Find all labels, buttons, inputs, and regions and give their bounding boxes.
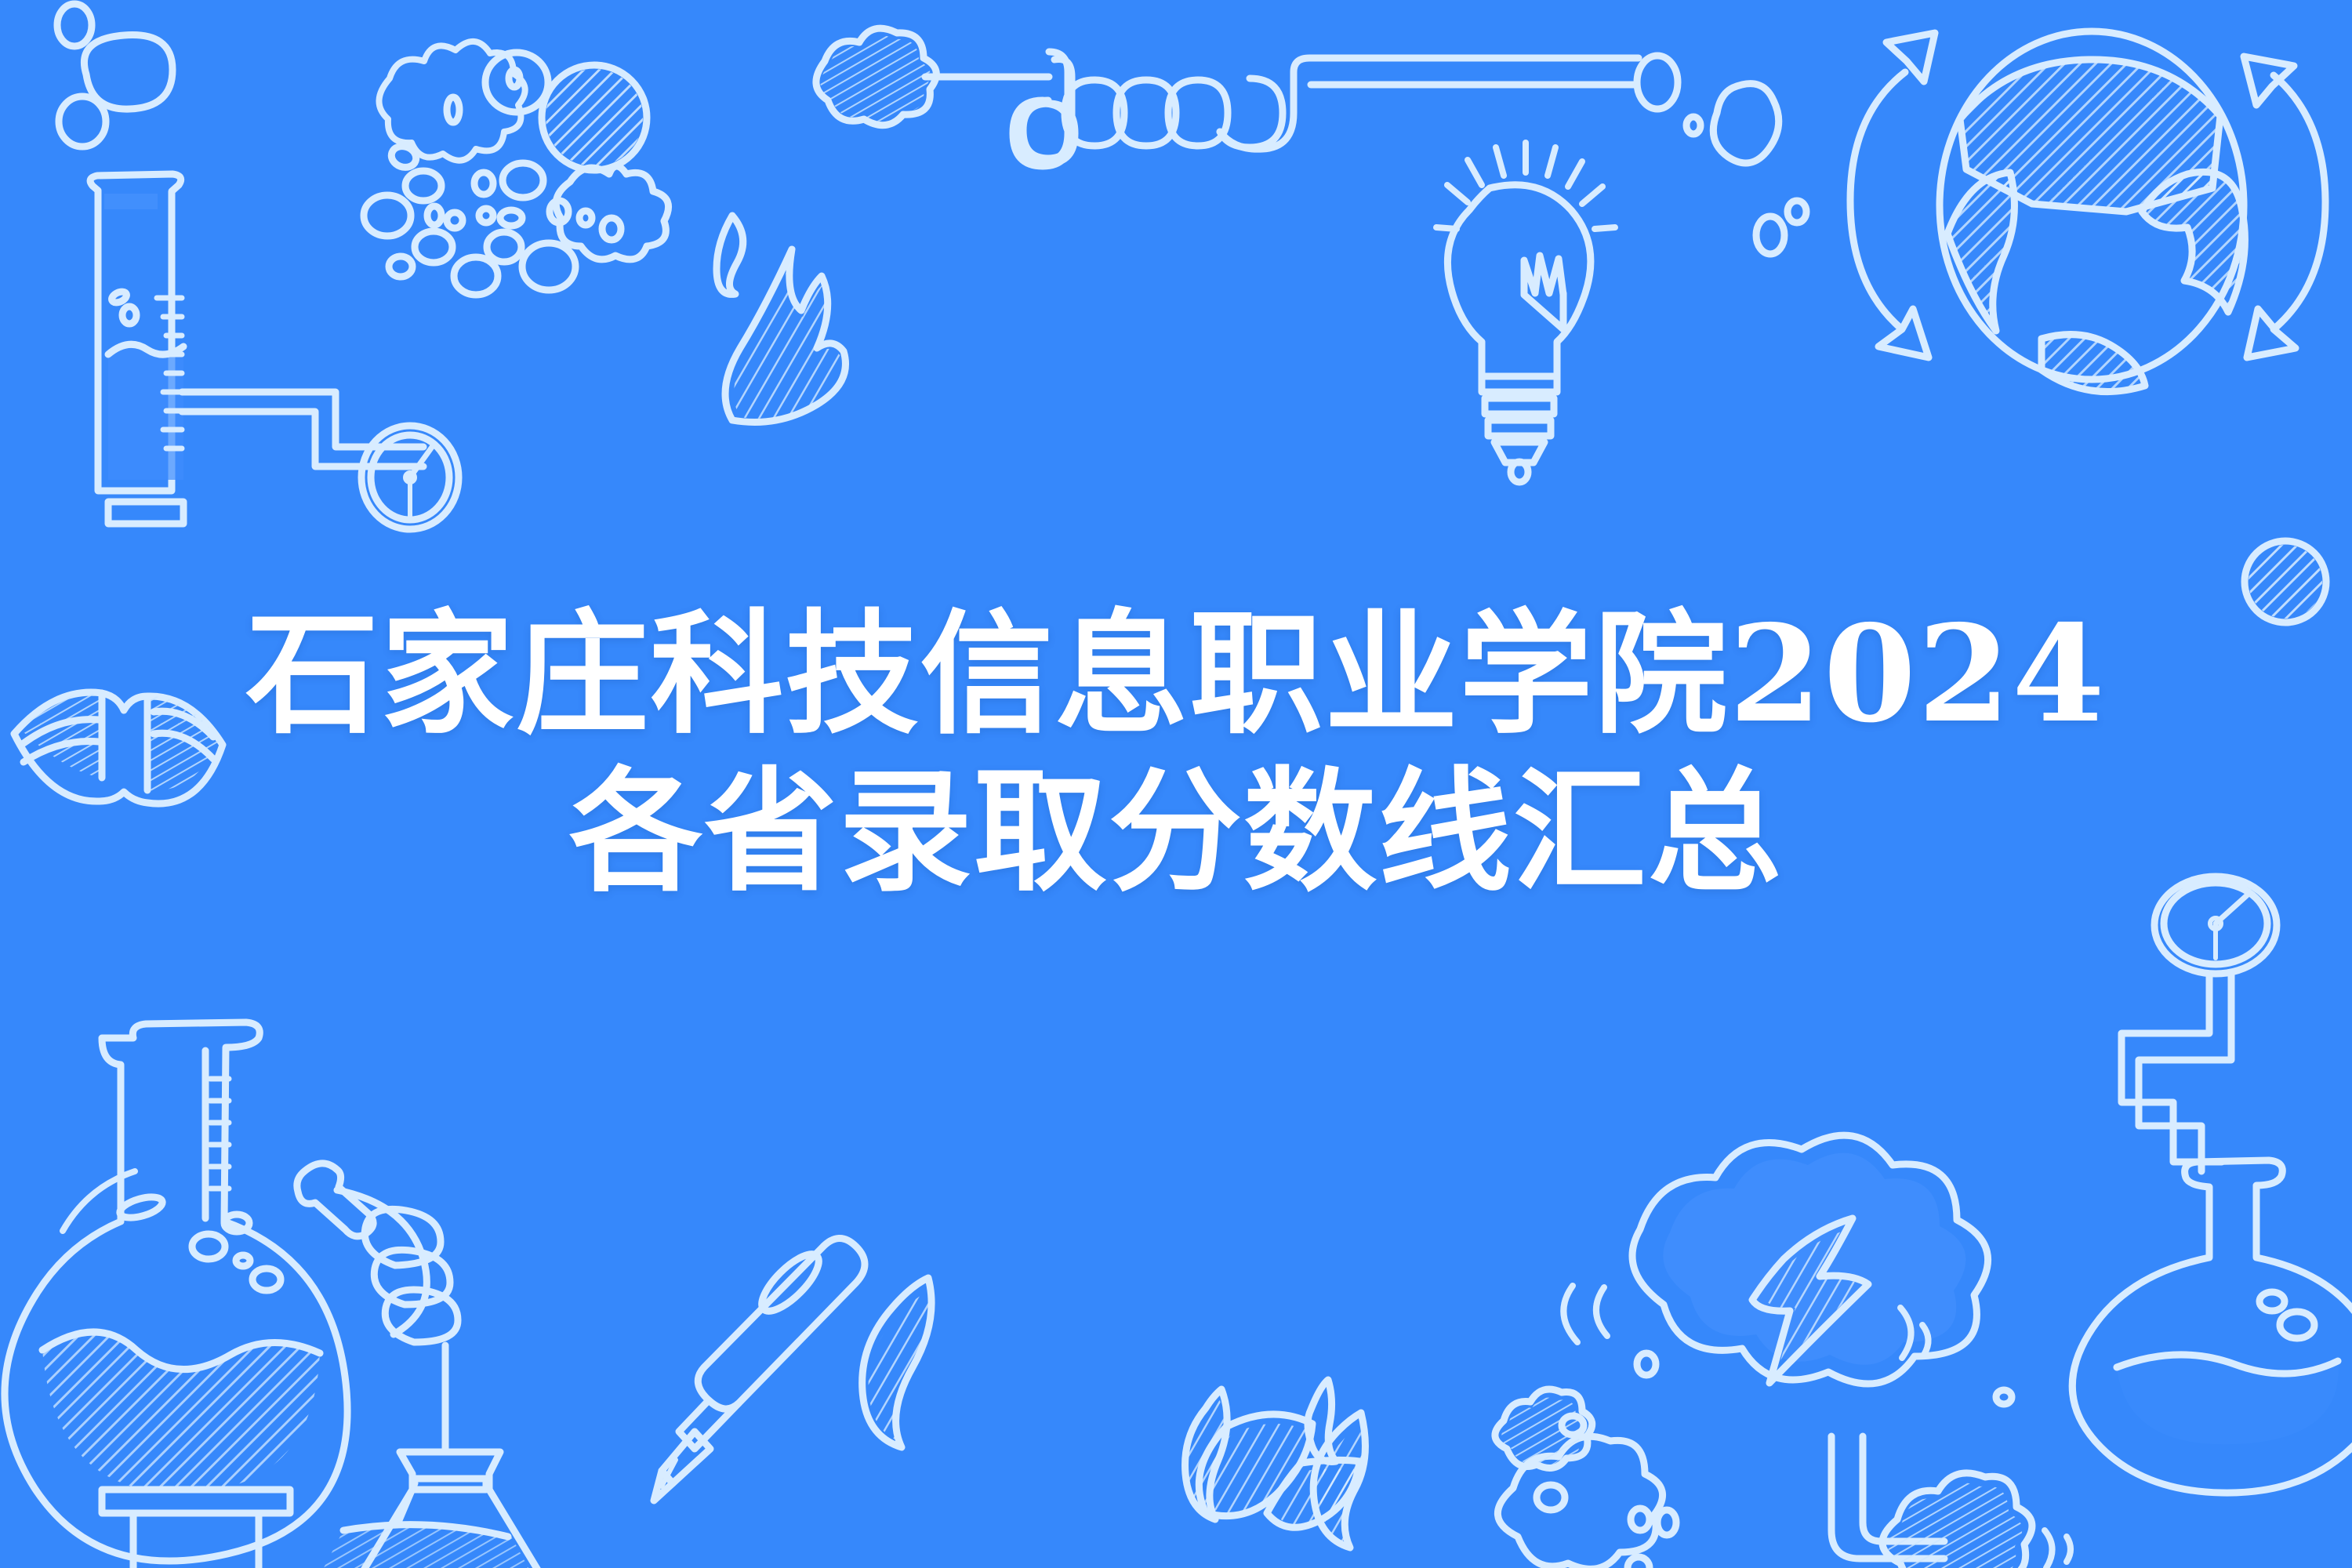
distillation-flask-icon: [5, 1022, 426, 1568]
graduated-cylinder-icon: [90, 174, 183, 524]
petri-dish-cells-icon: [364, 42, 669, 295]
coil-spring-icon: [925, 52, 1639, 166]
hatched-circle-icon: [1637, 1353, 1656, 1375]
bubble-cluster-right: [1637, 56, 1806, 254]
leaf-icon-left: [862, 1278, 931, 1447]
banner-title: 石家庄科技信息职业学院2024 各省录取分数线汇总: [0, 596, 2352, 910]
bubble-small-top-left: [57, 4, 92, 46]
fountain-pen-icon: [654, 1238, 865, 1501]
round-flask-icon-right: [2072, 1160, 2352, 1493]
title-line-1: 石家庄科技信息职业学院2024: [0, 596, 2352, 753]
pipe-line-icon-left: [182, 392, 423, 466]
cloud-small-icon-bottom-right: [1882, 1473, 2071, 1568]
title-line-2: 各省录取分数线汇总: [0, 753, 2352, 911]
erlenmeyer-flask-icon: [309, 1209, 571, 1568]
leaf-cluster-icon: [1185, 1380, 1366, 1548]
globe-recycle-icon: [1850, 31, 2325, 392]
flame-icon: [717, 216, 845, 423]
cloud-blob-small-left: [1495, 1389, 1592, 1468]
speck-icon: [1996, 1390, 2012, 1404]
pipe-line-icon-right: [2122, 974, 2231, 1171]
bubble-medium-top-left: [84, 35, 172, 110]
bubble-tiny-top-left: [59, 96, 106, 147]
cloud-small-icon-top: [816, 28, 936, 125]
pressure-gauge-icon-left: [361, 426, 459, 529]
cloud-lightning-icon: [1563, 1135, 1987, 1559]
cloud-small-icon-bottom: [1497, 1436, 1676, 1568]
lightbulb-icon: [1436, 143, 1615, 482]
banner-root: 石家庄科技信息职业学院2024 各省录取分数线汇总: [0, 0, 2352, 1568]
